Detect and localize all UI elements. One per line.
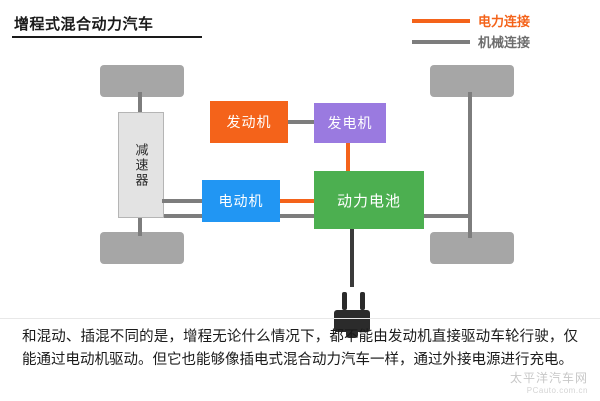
wheel-front-left [100, 65, 184, 97]
charging-cable [350, 229, 354, 287]
plug-pin-right-icon [360, 292, 365, 310]
watermark: 太平洋汽车网 PCauto.com.cn [510, 369, 588, 395]
section-divider [0, 318, 600, 319]
generator-label: 发电机 [328, 113, 373, 133]
legend-swatch-mechanical-icon [412, 40, 470, 44]
component-gearbox: 减速器 [118, 112, 164, 218]
component-motor: 电动机 [202, 180, 280, 222]
legend-item-power: 电力连接 [412, 10, 592, 31]
page-title: 增程式混合动力汽车 [14, 13, 154, 34]
caption-text: 和混动、插混不同的是，增程无论什么情况下，都不能由发动机直接驱动车轮行驶，仅能通… [22, 326, 578, 372]
component-battery: 动力电池 [314, 171, 424, 229]
watermark-main: 太平洋汽车网 [510, 369, 588, 386]
connector-generator-to-battery [346, 143, 350, 171]
legend-swatch-power-icon [412, 19, 470, 23]
battery-label: 动力电池 [337, 190, 401, 211]
motor-label: 电动机 [219, 191, 264, 211]
diagram-page: 增程式混合动力汽车 电力连接 机械连接 减速器 发动机 发电机 [0, 0, 600, 401]
legend-label-power: 电力连接 [478, 11, 530, 30]
powertrain-diagram: 减速器 发动机 发电机 电动机 动力电池 [0, 44, 600, 319]
component-engine: 发动机 [210, 101, 288, 143]
connector-motor-to-gearbox [162, 199, 202, 203]
gearbox-label: 减速器 [133, 143, 150, 188]
wheel-rear-left [100, 232, 184, 264]
engine-label: 发动机 [227, 112, 272, 132]
connector-battery-to-motor [280, 199, 314, 203]
connector-engine-to-generator [288, 120, 314, 124]
axle-front-left [138, 92, 142, 114]
wheel-rear-right [430, 232, 514, 264]
plug-pin-left-icon [342, 292, 347, 310]
wheel-front-right [430, 65, 514, 97]
title-underline [12, 36, 202, 38]
component-generator: 发电机 [314, 103, 386, 143]
watermark-sub: PCauto.com.cn [510, 386, 588, 395]
